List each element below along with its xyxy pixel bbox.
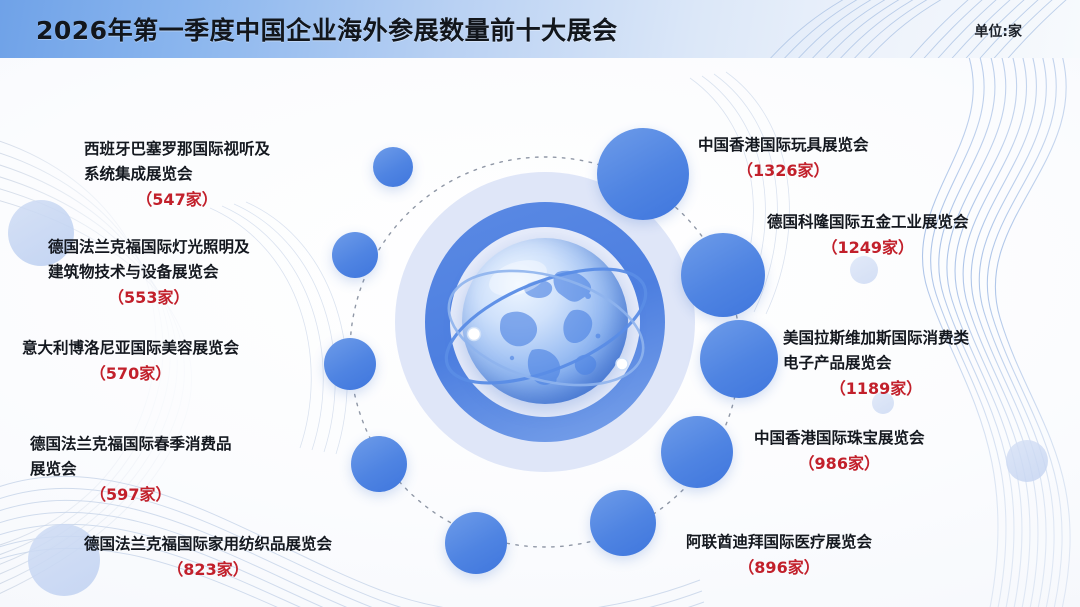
bubble-bologna-cosmoprof[interactable] (324, 338, 376, 390)
label-name-line: 意大利博洛尼亚国际美容展览会 (22, 336, 239, 361)
header-banner: 2026年第一季度中国企业海外参展数量前十大展会 单位:家 (0, 0, 1080, 58)
label-name-line: 西班牙巴塞罗那国际视听及 (84, 137, 270, 162)
label-name-line: 系统集成展览会 (84, 162, 270, 187)
label-frankfurt-lightbuilding[interactable]: 德国法兰克福国际灯光照明及 建筑物技术与设备展览会 （553家） (48, 235, 250, 311)
label-bologna-cosmoprof[interactable]: 意大利博洛尼亚国际美容展览会 （570家） (22, 336, 239, 387)
bubble-frankfurt-lightbuilding[interactable] (332, 232, 378, 278)
bubble-cologne-hardware[interactable] (681, 233, 765, 317)
label-name-line: 电子产品展览会 (783, 351, 969, 376)
label-name-line: 德国法兰克福国际家用纺织品展览会 (84, 532, 332, 557)
label-name-line: 阿联酋迪拜国际医疗展览会 (686, 530, 872, 555)
label-name-line: 建筑物技术与设备展览会 (48, 260, 250, 285)
label-value: （823家） (84, 557, 332, 583)
header-line-decoration (750, 0, 1080, 58)
label-value: （1326家） (698, 158, 869, 184)
label-lasvegas-ces[interactable]: 美国拉斯维加斯国际消费类 电子产品展览会 （1189家） (783, 326, 969, 402)
label-dubai-medical[interactable]: 阿联酋迪拜国际医疗展览会 （896家） (686, 530, 872, 581)
page-title: 2026年第一季度中国企业海外参展数量前十大展会 (36, 11, 618, 47)
label-name-line: 德国法兰克福国际春季消费品 (30, 432, 232, 457)
label-value: （896家） (686, 555, 872, 581)
label-value: （553家） (48, 285, 250, 311)
label-hongkong-toys[interactable]: 中国香港国际玩具展览会 （1326家） (698, 133, 869, 184)
label-value: （1189家） (783, 376, 969, 402)
infographic-canvas: 2026年第一季度中国企业海外参展数量前十大展会 单位:家 中国香港国际玩具展览… (0, 0, 1080, 607)
bubble-barcelona-isc[interactable] (373, 147, 413, 187)
bubble-frankfurt-hometextile[interactable] (445, 512, 507, 574)
globe-continents-icon (462, 238, 628, 404)
bubble-hongkong-jewellery[interactable] (661, 416, 733, 488)
label-value: （547家） (84, 187, 270, 213)
bubble-lasvegas-ces[interactable] (700, 320, 778, 398)
label-name-line: 中国香港国际玩具展览会 (698, 133, 869, 158)
label-cologne-hardware[interactable]: 德国科隆国际五金工业展览会 （1249家） (767, 210, 969, 261)
unit-label: 单位:家 (974, 21, 1022, 41)
bubble-hongkong-toys[interactable] (597, 128, 689, 220)
label-value: （597家） (30, 482, 232, 508)
label-name-line: 美国拉斯维加斯国际消费类 (783, 326, 969, 351)
label-barcelona-isc[interactable]: 西班牙巴塞罗那国际视听及 系统集成展览会 （547家） (84, 137, 270, 213)
label-value: （986家） (754, 451, 925, 477)
bubble-dubai-medical[interactable] (590, 490, 656, 556)
bubble-frankfurt-ambiente[interactable] (351, 436, 407, 492)
globe-sphere (462, 238, 628, 404)
label-name-line: 展览会 (30, 457, 232, 482)
label-value: （570家） (22, 361, 239, 387)
label-value: （1249家） (767, 235, 969, 261)
label-name-line: 中国香港国际珠宝展览会 (754, 426, 925, 451)
label-name-line: 德国法兰克福国际灯光照明及 (48, 235, 250, 260)
decorative-circle-right-mid (1006, 440, 1048, 482)
label-name-line: 德国科隆国际五金工业展览会 (767, 210, 969, 235)
label-frankfurt-ambiente[interactable]: 德国法兰克福国际春季消费品 展览会 （597家） (30, 432, 232, 508)
label-hongkong-jewellery[interactable]: 中国香港国际珠宝展览会 （986家） (754, 426, 925, 477)
label-frankfurt-hometextile[interactable]: 德国法兰克福国际家用纺织品展览会 （823家） (84, 532, 332, 583)
